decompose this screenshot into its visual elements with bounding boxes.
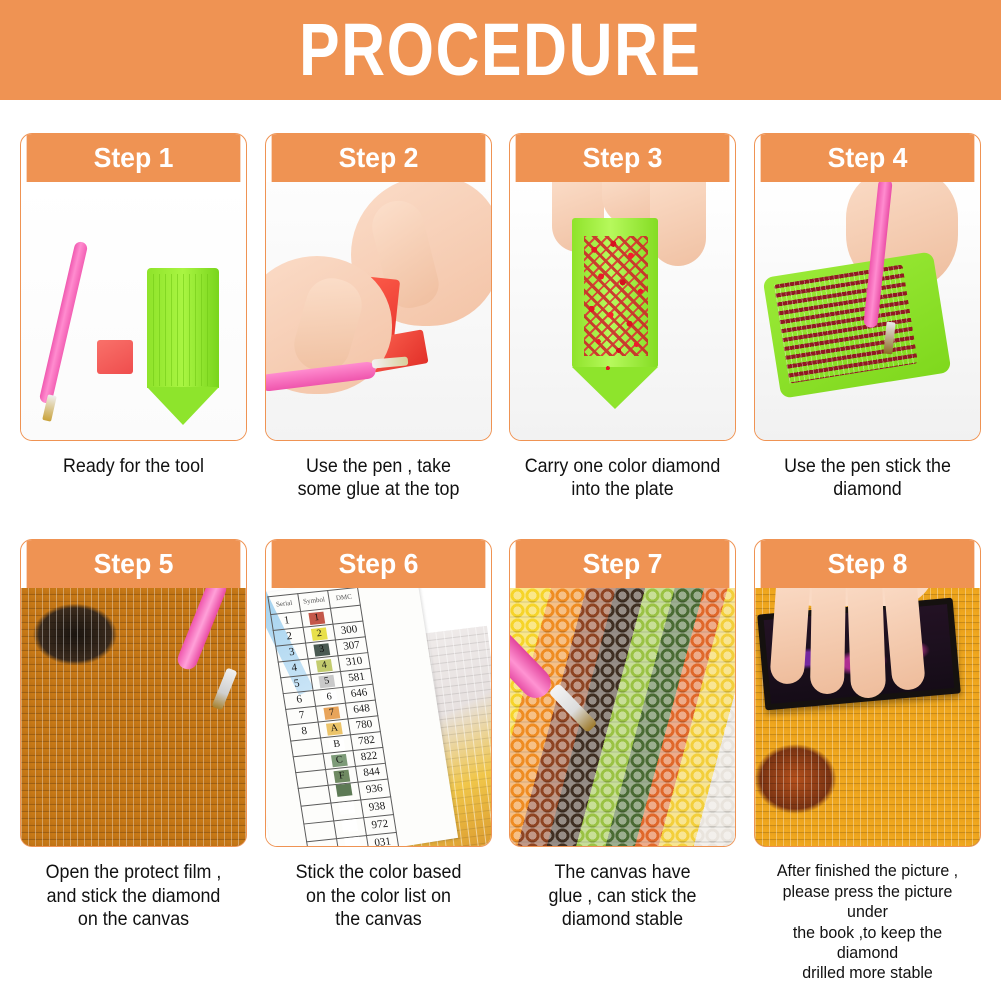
step-header-6: Step 6 <box>271 540 485 588</box>
step-caption-8: After finished the picture , please pres… <box>761 861 974 983</box>
glue-square-icon <box>97 340 133 374</box>
step-cell-1: Step 1 Ready for the tool <box>20 133 247 501</box>
glue-pickup-illustration <box>266 182 491 440</box>
canvas-mosaic-illustration <box>21 588 246 846</box>
color-chart-illustration: Serial Symbol DMC 1122300333074431055581… <box>266 588 491 846</box>
step-cell-6: Step 6 Serial Symbol DMC <box>265 539 492 983</box>
step-header-3: Step 3 <box>516 134 730 182</box>
step-card-5[interactable]: Step 5 <box>20 539 247 847</box>
step-card-1[interactable]: Step 1 <box>20 133 247 441</box>
step-caption-4: Use the pen stick the diamond <box>761 455 974 501</box>
pen-picking-diamond-illustration <box>755 182 980 440</box>
chart-cell-dmc: 031 <box>366 833 399 847</box>
step-image-4 <box>755 182 980 440</box>
tray-tip-icon <box>147 387 219 425</box>
step-header-5: Step 5 <box>27 540 241 588</box>
step-image-2 <box>266 182 491 440</box>
sunflower-mosaic-icon <box>21 588 246 846</box>
step-cell-7: Step 7 The canvas have glue , can stick … <box>509 539 736 983</box>
step-caption-1: Ready for the tool <box>27 455 240 478</box>
step-cell-5: Step 5 Open the protect film , and stick… <box>20 539 247 983</box>
step-cell-4: Step 4 Use the pen stick the diamond <box>754 133 981 501</box>
step-cell-2: Step 2 Use the pen , take some glue at t… <box>265 133 492 501</box>
symbol-swatch: 3 <box>313 644 330 657</box>
step-image-6: Serial Symbol DMC 1122300333074431055581… <box>266 588 491 846</box>
step-card-2[interactable]: Step 2 <box>265 133 492 441</box>
step-caption-5: Open the protect film , and stick the di… <box>27 861 240 931</box>
step-header-1: Step 1 <box>27 134 241 182</box>
page-header-banner: PROCEDURE <box>0 0 1001 100</box>
round-diamonds-icon <box>510 588 735 846</box>
steps-grid: Step 1 Ready for the tool Step 2 <box>0 133 1001 984</box>
symbol-swatch: 6 <box>321 691 338 704</box>
tray-grooves-icon <box>153 274 213 386</box>
diamonds-in-tray-illustration <box>510 182 735 440</box>
symbol-swatch: F <box>333 770 350 783</box>
tools-illustration <box>21 182 246 440</box>
step-card-8[interactable]: Step 8 <box>754 539 981 847</box>
step-caption-2: Use the pen , take some glue at the top <box>271 455 484 501</box>
symbol-swatch: 2 <box>311 628 328 641</box>
steps-row-1: Step 1 Ready for the tool Step 2 <box>0 133 1001 501</box>
step-cell-8: Step 8 After finished the picture , plea… <box>754 539 981 983</box>
symbol-swatch: C <box>331 754 348 767</box>
symbol-swatch: 4 <box>316 659 333 672</box>
symbol-swatch: 7 <box>323 707 340 720</box>
finger-icon <box>650 182 706 266</box>
step-image-1 <box>21 182 246 440</box>
symbol-swatch <box>341 819 358 832</box>
pressing-book-illustration <box>755 588 980 846</box>
step-header-4: Step 4 <box>761 134 975 182</box>
step-caption-6: Stick the color based on the color list … <box>271 861 484 931</box>
step-image-8 <box>755 588 980 846</box>
step-card-4[interactable]: Step 4 <box>754 133 981 441</box>
step-caption-3: Carry one color diamond into the plate <box>516 455 729 501</box>
step-header-7: Step 7 <box>516 540 730 588</box>
pink-pen-icon <box>39 241 89 405</box>
finger-icon <box>847 588 886 699</box>
diamond-highlights <box>774 264 918 383</box>
step-header-2: Step 2 <box>271 134 485 182</box>
step-caption-7: The canvas have glue , can stick the dia… <box>516 861 729 931</box>
symbol-swatch <box>335 784 352 797</box>
page-title: PROCEDURE <box>299 13 701 87</box>
step-image-7 <box>510 588 735 846</box>
red-diamonds-icon <box>582 232 650 380</box>
step-header-8: Step 8 <box>761 540 975 588</box>
symbol-swatch: A <box>326 723 343 736</box>
step-card-6[interactable]: Step 6 Serial Symbol DMC <box>265 539 492 847</box>
symbol-swatch: 1 <box>308 612 325 625</box>
finger-icon <box>810 588 846 694</box>
step-card-3[interactable]: Step 3 <box>509 133 736 441</box>
diamond-closeup-illustration <box>510 588 735 846</box>
step-card-7[interactable]: Step 7 <box>509 539 736 847</box>
symbol-swatch <box>344 837 361 846</box>
chart-cell-symbol <box>336 836 369 846</box>
step-image-3 <box>510 182 735 440</box>
step-cell-3: Step 3 Carry one color diamond into the … <box>509 133 736 501</box>
symbol-swatch: 5 <box>318 675 335 688</box>
steps-row-2: Step 5 Open the protect film , and stick… <box>0 539 1001 983</box>
symbol-swatch: B <box>328 738 345 751</box>
symbol-swatch <box>338 802 355 815</box>
step-image-5 <box>21 588 246 846</box>
